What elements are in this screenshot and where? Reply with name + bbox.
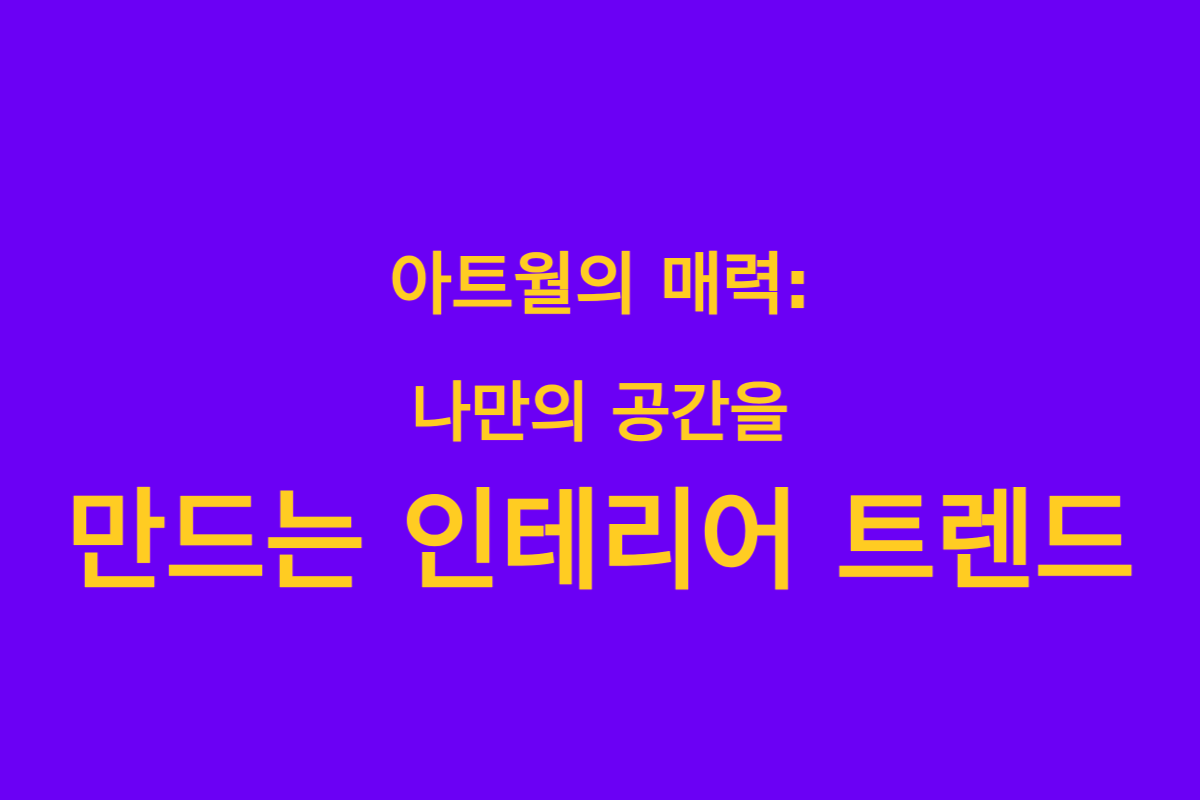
headline-block: 아트월의 매력: 나만의 공간을 만드는 인테리어 트렌드 [0,222,1200,606]
headline-line-2: 나만의 공간을 [0,350,1200,478]
headline-line-3: 만드는 인테리어 트렌드 [0,478,1200,606]
title-card: 아트월의 매력: 나만의 공간을 만드는 인테리어 트렌드 [0,0,1200,800]
headline-line-1: 아트월의 매력: [0,222,1200,350]
